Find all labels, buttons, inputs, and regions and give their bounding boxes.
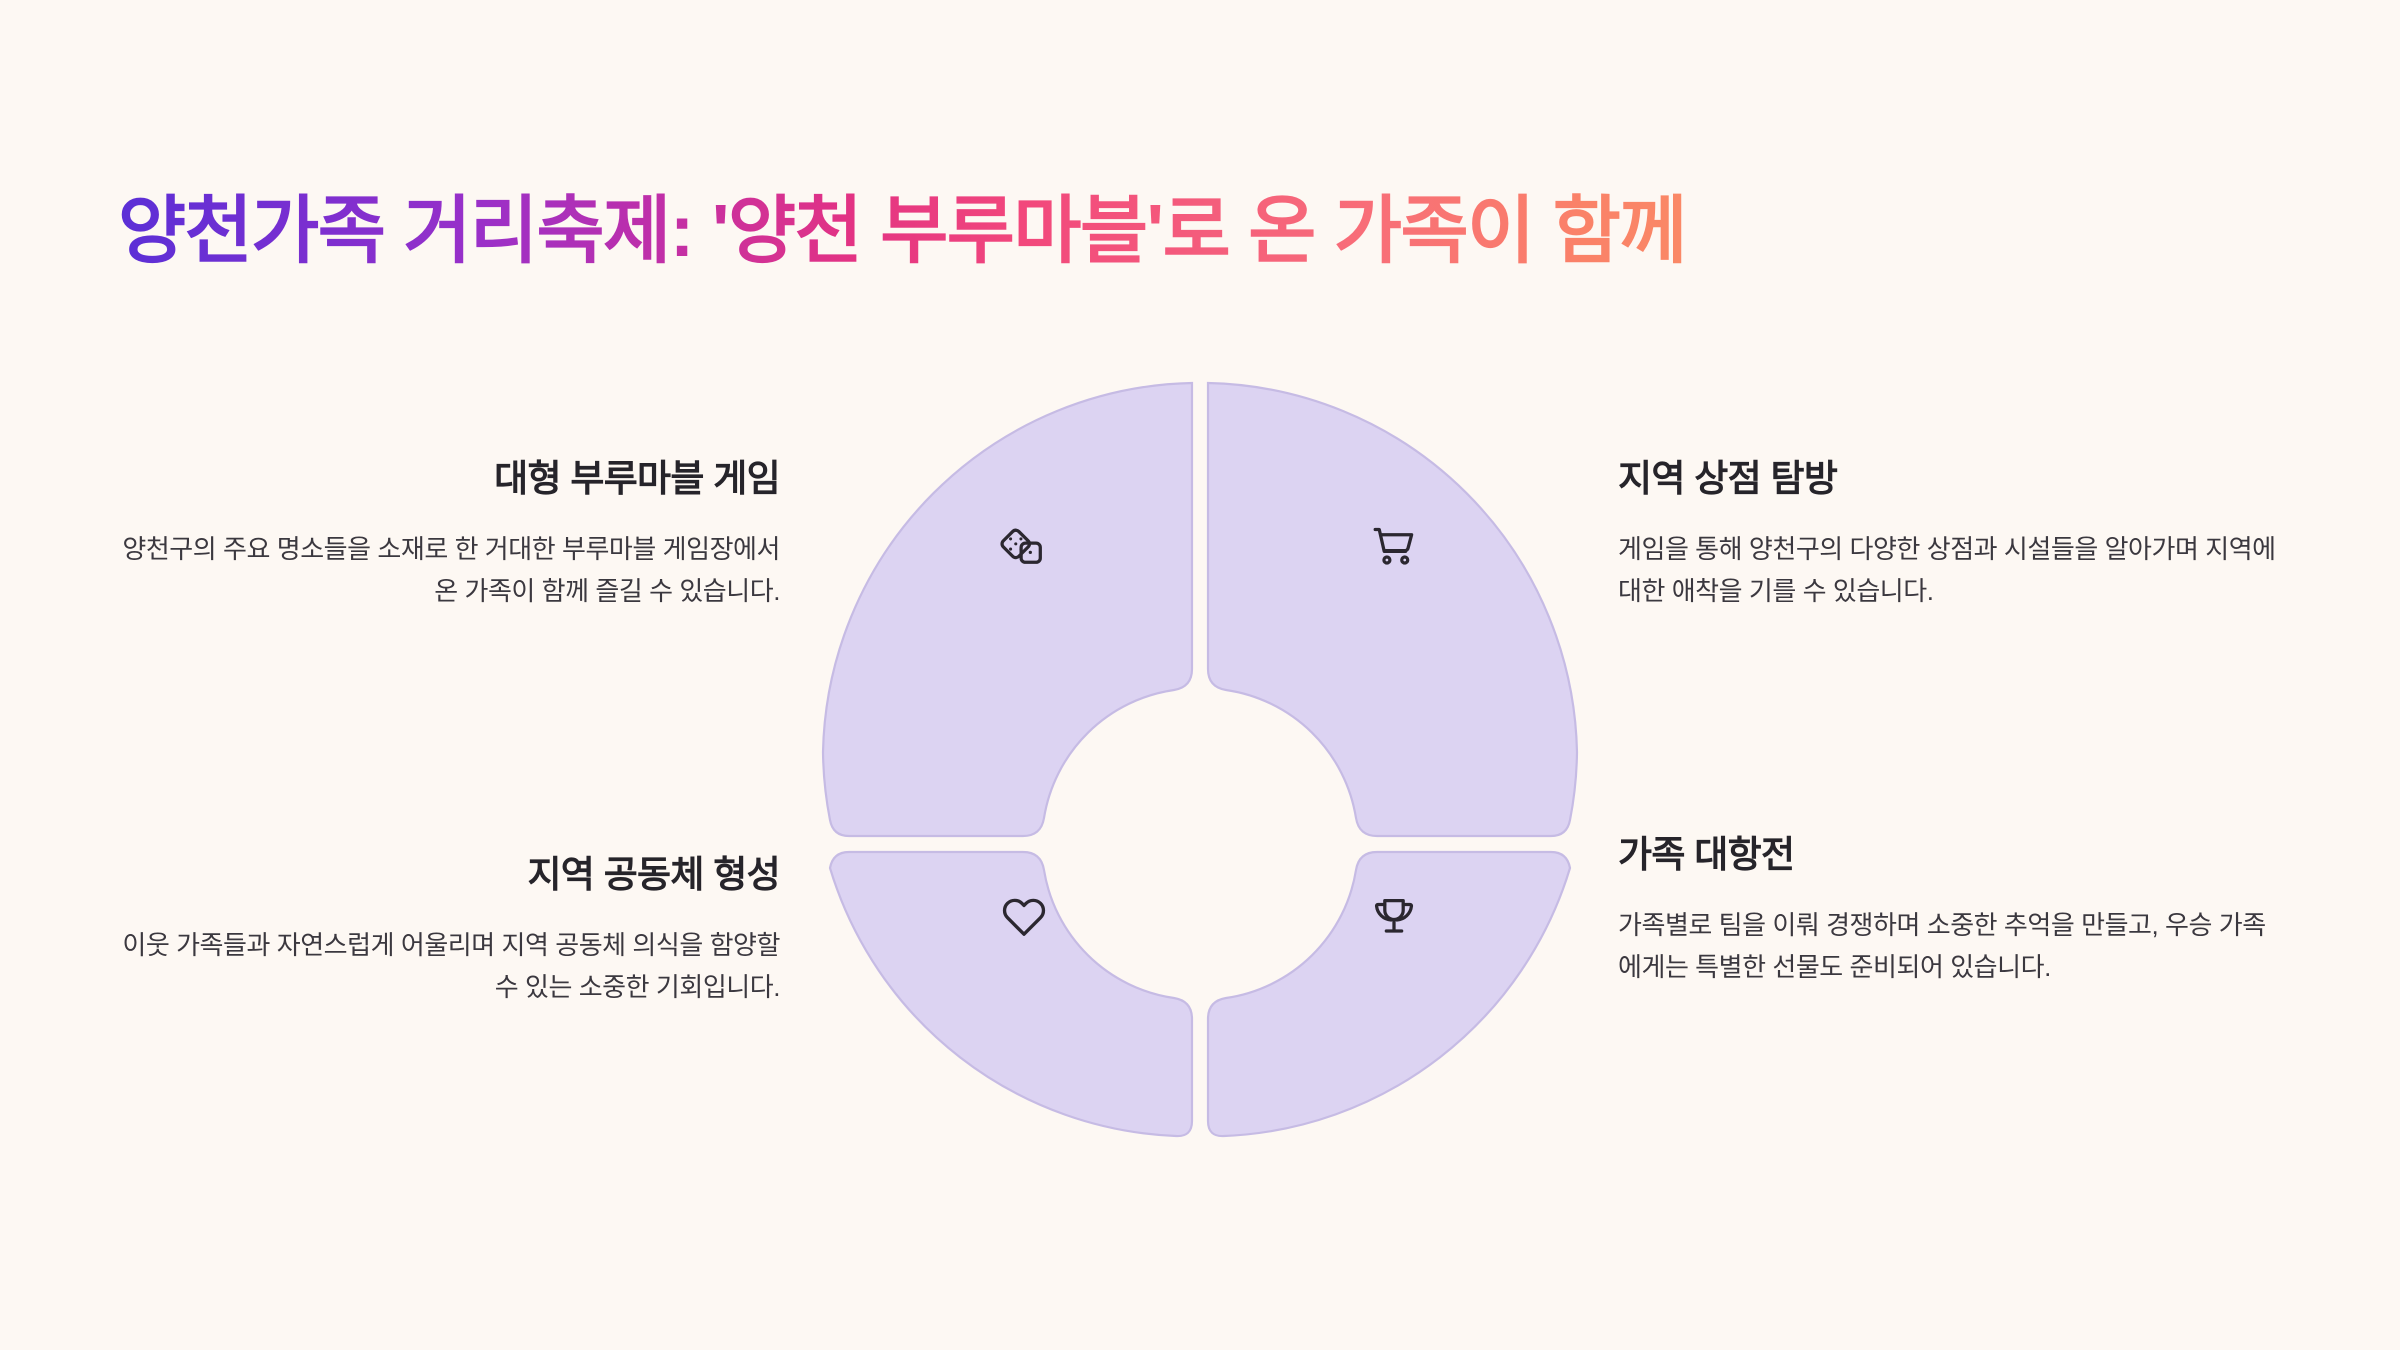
feature-description: 양천구의 주요 명소들을 소재로 한 거대한 부루마블 게임장에서 온 가족이 …	[120, 528, 780, 612]
feature-block-bottom-right: 가족 대항전 가족별로 팀을 이뤄 경쟁하며 소중한 추억을 만들고, 우승 가…	[1618, 832, 2278, 988]
page-title: 양천가족 거리축제: '양천 부루마블'로 온 가족이 함께	[118, 186, 2278, 276]
donut-segment-bottom-left[interactable]	[830, 852, 1192, 1136]
feature-description: 가족별로 팀을 이뤄 경쟁하며 소중한 추억을 만들고, 우승 가족에게는 특별…	[1618, 904, 2278, 988]
feature-block-top-left: 대형 부루마블 게임 양천구의 주요 명소들을 소재로 한 거대한 부루마블 게…	[120, 456, 780, 612]
feature-title: 지역 상점 탐방	[1618, 456, 2278, 502]
feature-description: 게임을 통해 양천구의 다양한 상점과 시설들을 알아가며 지역에 대한 애착을…	[1618, 528, 2278, 612]
donut-segment-bottom-right[interactable]	[1208, 852, 1570, 1136]
feature-title: 가족 대항전	[1618, 832, 2278, 878]
page-header: 양천가족 거리축제: '양천 부루마블'로 온 가족이 함께	[118, 186, 2278, 296]
donut-diagram	[800, 360, 1600, 1160]
feature-block-bottom-left: 지역 공동체 형성 이웃 가족들과 자연스럽게 어울리며 지역 공동체 의식을 …	[120, 852, 780, 1008]
donut-segment-top-left[interactable]	[823, 383, 1192, 836]
donut-segment-top-right[interactable]	[1208, 383, 1577, 836]
feature-title: 대형 부루마블 게임	[120, 456, 780, 502]
donut-segments	[823, 383, 1577, 1136]
feature-title: 지역 공동체 형성	[120, 852, 780, 898]
feature-description: 이웃 가족들과 자연스럽게 어울리며 지역 공동체 의식을 함양할 수 있는 소…	[120, 924, 780, 1008]
feature-block-top-right: 지역 상점 탐방 게임을 통해 양천구의 다양한 상점과 시설들을 알아가며 지…	[1618, 456, 2278, 612]
